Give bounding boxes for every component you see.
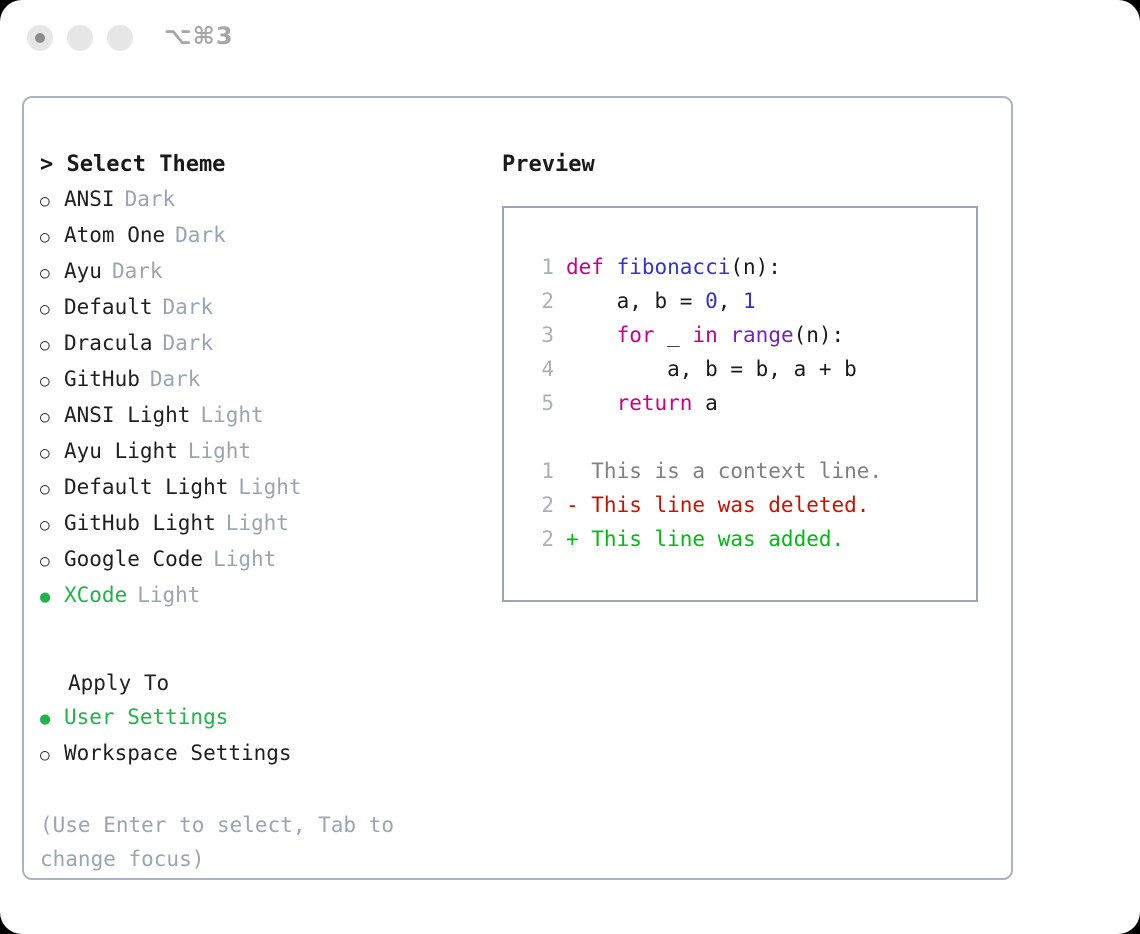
theme-option-kind: Dark <box>125 182 176 216</box>
line-number: 4 <box>520 352 554 386</box>
line-number: 1 <box>520 454 554 488</box>
theme-option-name: Dracula <box>64 326 153 360</box>
diff-line: 2- This line was deleted. <box>504 488 976 522</box>
apply-to-heading: Apply To <box>40 666 470 700</box>
theme-option-ayu-light[interactable]: ○Ayu LightLight <box>40 434 470 470</box>
line-number: 3 <box>520 318 554 352</box>
token-kw: for <box>617 323 668 347</box>
theme-option-xcode[interactable]: ●XCodeLight <box>40 578 470 614</box>
token-fn: fibonacci <box>617 255 731 279</box>
radio-selected-icon: ● <box>40 580 64 614</box>
apply-to-option-name: User Settings <box>64 700 228 734</box>
theme-option-kind: Dark <box>112 254 163 288</box>
theme-list: ○ANSIDark○Atom OneDark○AyuDark○DefaultDa… <box>40 182 470 614</box>
diff-line: 1 This is a context line. <box>504 454 976 488</box>
radio-unselected-icon: ○ <box>40 256 64 290</box>
theme-option-kind: Light <box>226 506 289 540</box>
theme-option-kind: Light <box>188 434 251 468</box>
diff-line: 2+ This line was added. <box>504 522 976 556</box>
radio-unselected-icon: ○ <box>40 184 64 218</box>
code-content: return a <box>566 386 718 420</box>
theme-option-google-code[interactable]: ○Google CodeLight <box>40 542 470 578</box>
theme-option-kind: Light <box>137 578 200 612</box>
preview-column: Preview 1def fibonacci(n):2 a, b = 0, 13… <box>502 148 997 602</box>
theme-option-name: ANSI Light <box>64 398 190 432</box>
theme-picker-column: > Select Theme ○ANSIDark○Atom OneDark○Ay… <box>40 148 470 876</box>
radio-unselected-icon: ○ <box>40 738 64 772</box>
token-pl: , <box>718 289 743 313</box>
theme-option-kind: Light <box>213 542 276 576</box>
title-bar: ⌥⌘3 <box>0 0 1140 78</box>
token-del: - This line was deleted. <box>566 493 869 517</box>
theme-option-ansi[interactable]: ○ANSIDark <box>40 182 470 218</box>
token-kw: in <box>692 323 730 347</box>
theme-option-ansi-light[interactable]: ○ANSI LightLight <box>40 398 470 434</box>
app-window: ⌥⌘3 > Select Theme ○ANSIDark○Atom OneDar… <box>0 0 1140 934</box>
theme-option-kind: Light <box>238 470 301 504</box>
token-pl: (n): <box>730 255 781 279</box>
token-kw: return <box>617 391 706 415</box>
apply-to-option-user-settings[interactable]: ●User Settings <box>40 700 470 736</box>
code-content: for _ in range(n): <box>566 318 844 352</box>
token-pl: a <box>705 391 718 415</box>
token-ctx: This is a context line. <box>566 459 882 483</box>
code-line: 2 a, b = 0, 1 <box>504 284 976 318</box>
diff-sample: 1 This is a context line.2- This line wa… <box>504 454 976 556</box>
diff-content: - This line was deleted. <box>566 488 869 522</box>
code-line: 5 return a <box>504 386 976 420</box>
theme-option-name: GitHub <box>64 362 140 396</box>
token-add: + This line was added. <box>566 527 844 551</box>
theme-option-github-light[interactable]: ○GitHub LightLight <box>40 506 470 542</box>
token-bi: range <box>730 323 793 347</box>
theme-option-dracula[interactable]: ○DraculaDark <box>40 326 470 362</box>
diff-content: + This line was added. <box>566 522 844 556</box>
line-number: 5 <box>520 386 554 420</box>
token-num: 0 <box>705 289 718 313</box>
radio-unselected-icon: ○ <box>40 220 64 254</box>
code-line: 1def fibonacci(n): <box>504 250 976 284</box>
apply-to-option-name: Workspace Settings <box>64 736 292 770</box>
select-theme-heading: > Select Theme <box>40 148 470 182</box>
window-dot-3[interactable] <box>107 25 133 51</box>
theme-option-name: GitHub Light <box>64 506 216 540</box>
code-line: 4 a, b = b, a + b <box>504 352 976 386</box>
token-pl: _ <box>667 323 692 347</box>
keyboard-hint-text: (Use Enter to select, Tab to change focu… <box>40 808 450 876</box>
code-spacer <box>504 420 976 454</box>
line-number: 1 <box>520 250 554 284</box>
radio-selected-icon: ● <box>40 702 64 736</box>
code-sample: 1def fibonacci(n):2 a, b = 0, 13 for _ i… <box>504 250 976 420</box>
radio-unselected-icon: ○ <box>40 544 64 578</box>
theme-option-ayu[interactable]: ○AyuDark <box>40 254 470 290</box>
line-number: 2 <box>520 284 554 318</box>
theme-option-name: Default Light <box>64 470 228 504</box>
theme-option-kind: Dark <box>163 290 214 324</box>
radio-unselected-icon: ○ <box>40 328 64 362</box>
token-pl <box>566 323 617 347</box>
theme-option-name: Atom One <box>64 218 165 252</box>
theme-option-kind: Dark <box>175 218 226 252</box>
radio-unselected-icon: ○ <box>40 364 64 398</box>
theme-option-kind: Dark <box>150 362 201 396</box>
theme-option-github[interactable]: ○GitHubDark <box>40 362 470 398</box>
theme-option-name: XCode <box>64 578 127 612</box>
token-kw: def <box>566 255 617 279</box>
radio-unselected-icon: ○ <box>40 400 64 434</box>
theme-option-atom-one[interactable]: ○Atom OneDark <box>40 218 470 254</box>
theme-option-name: Ayu <box>64 254 102 288</box>
theme-option-default[interactable]: ○DefaultDark <box>40 290 470 326</box>
theme-option-name: Default <box>64 290 153 324</box>
window-dot-active[interactable] <box>27 25 53 51</box>
token-pl: (n): <box>794 323 845 347</box>
window-dot-2[interactable] <box>67 25 93 51</box>
main-panel: > Select Theme ○ANSIDark○Atom OneDark○Ay… <box>22 96 1013 880</box>
radio-unselected-icon: ○ <box>40 508 64 542</box>
code-content: a, b = 0, 1 <box>566 284 756 318</box>
radio-unselected-icon: ○ <box>40 292 64 326</box>
theme-option-name: Google Code <box>64 542 203 576</box>
theme-option-default-light[interactable]: ○Default LightLight <box>40 470 470 506</box>
line-number: 2 <box>520 488 554 522</box>
apply-to-option-workspace-settings[interactable]: ○Workspace Settings <box>40 736 470 772</box>
line-number: 2 <box>520 522 554 556</box>
token-pl: a, b = <box>566 289 705 313</box>
code-preview-box: 1def fibonacci(n):2 a, b = 0, 13 for _ i… <box>502 206 978 602</box>
token-num: 1 <box>743 289 756 313</box>
radio-unselected-icon: ○ <box>40 436 64 470</box>
code-content: a, b = b, a + b <box>566 352 857 386</box>
token-pl: a, b = b, a + b <box>566 357 857 381</box>
radio-unselected-icon: ○ <box>40 472 64 506</box>
diff-content: This is a context line. <box>566 454 882 488</box>
token-pl <box>566 391 617 415</box>
code-line: 3 for _ in range(n): <box>504 318 976 352</box>
preview-heading: Preview <box>502 148 997 182</box>
apply-to-list: ●User Settings○Workspace Settings <box>40 700 470 772</box>
theme-option-kind: Dark <box>163 326 214 360</box>
theme-option-name: Ayu Light <box>64 434 178 468</box>
theme-option-kind: Light <box>200 398 263 432</box>
keyboard-shortcut-label: ⌥⌘3 <box>164 22 234 50</box>
theme-option-name: ANSI <box>64 182 115 216</box>
code-content: def fibonacci(n): <box>566 250 781 284</box>
